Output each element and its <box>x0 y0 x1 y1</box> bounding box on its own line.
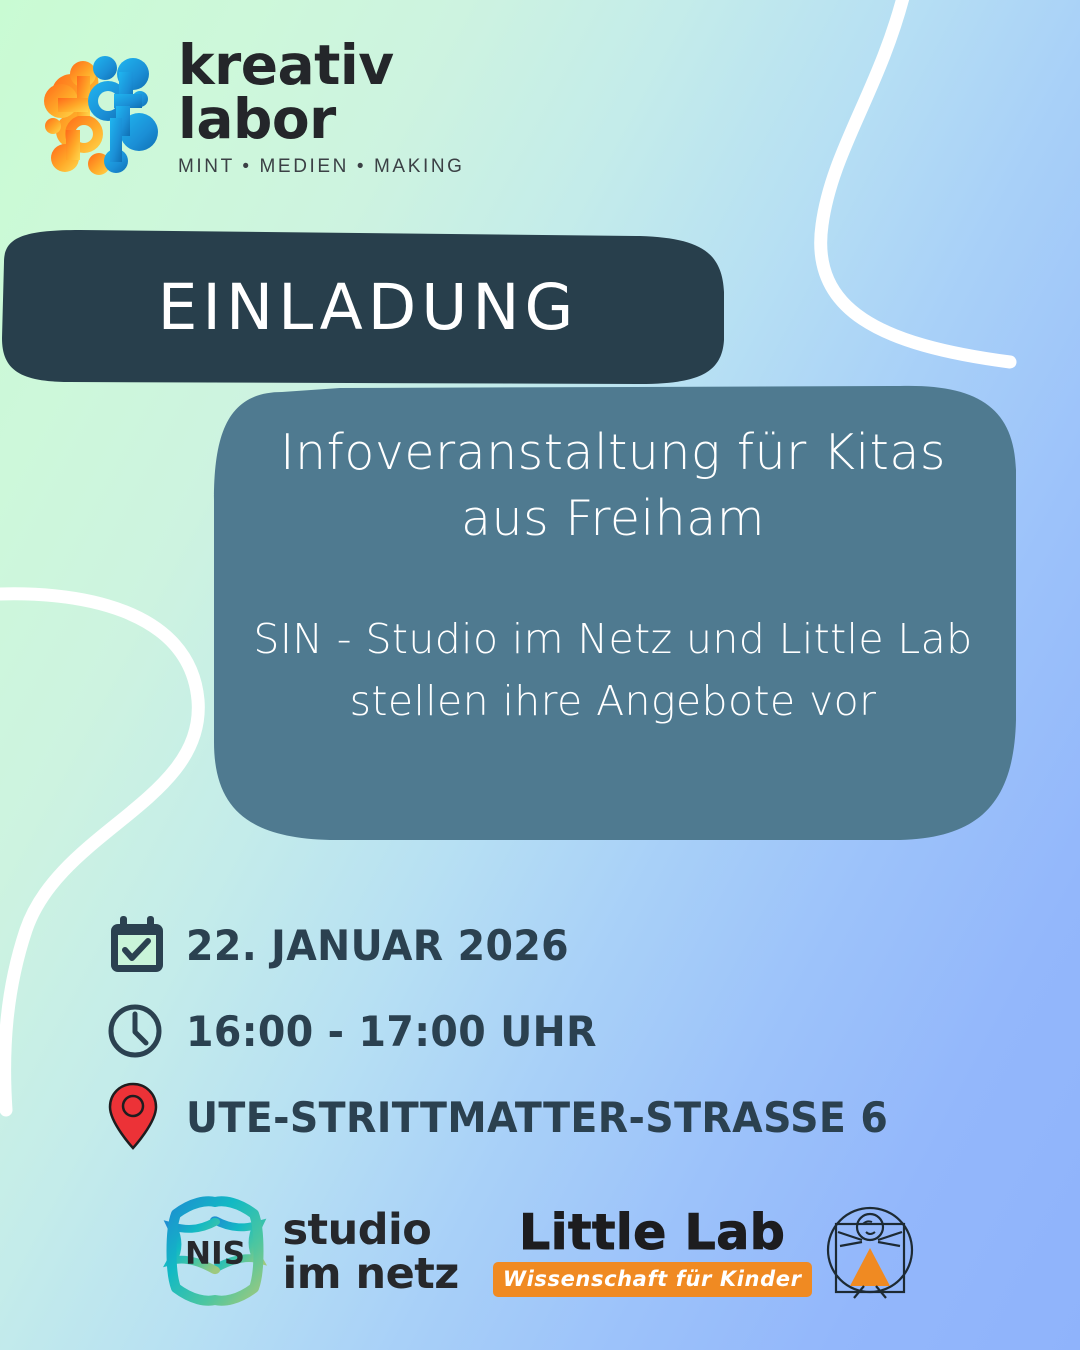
map-pin-icon <box>106 1082 168 1152</box>
einladung-label: EINLADUNG <box>0 228 726 386</box>
brand-name-line2: labor <box>178 92 458 146</box>
headline-line2: aus Freiham <box>218 486 1008 552</box>
einladung-banner: EINLADUNG <box>0 228 726 386</box>
main-message: Infoveranstaltung für Kitas aus Freiham … <box>218 420 1008 732</box>
detail-text-location: UTE-STRITTMATTER-STRASSE 6 <box>186 1093 888 1142</box>
detail-row-time: 16:00 - 17:00 UHR <box>106 992 986 1070</box>
brand-tagline: MINT • MEDIEN • MAKING <box>178 156 458 178</box>
event-details: 22. JANUAR 2026 16:00 - 17:00 UHR UTE-ST… <box>106 906 986 1164</box>
vitruvian-kid-icon <box>822 1202 918 1302</box>
molecule-network-icon <box>36 46 176 186</box>
sin-word-line1: studio <box>282 1208 458 1252</box>
little-lab-ribbon: Wissenschaft für Kinder <box>493 1262 812 1297</box>
subline-line2: stellen ihre Angebote vor <box>218 670 1008 732</box>
clock-icon <box>106 996 168 1066</box>
invitation-poster: kreativ labor MINT • MEDIEN • MAKING EIN… <box>0 0 1080 1350</box>
detail-row-location: UTE-STRITTMATTER-STRASSE 6 <box>106 1078 986 1156</box>
brand-logo: kreativ labor MINT • MEDIEN • MAKING <box>36 38 456 198</box>
calendar-check-icon <box>106 910 168 980</box>
subline-line1: SIN - Studio im Netz und Little Lab <box>218 608 1008 670</box>
detail-text-date: 22. JANUAR 2026 <box>186 921 569 970</box>
headline-line1: Infoveranstaltung für Kitas <box>218 420 1008 486</box>
sin-hexagon-icon: SIN <box>162 1196 268 1308</box>
little-lab-title: Little Lab <box>493 1208 812 1258</box>
sin-logo: SIN studio im netz <box>162 1196 458 1308</box>
little-lab-logo: Little Lab Wissenschaft für Kinder <box>493 1202 918 1302</box>
partner-logos: SIN studio im netz Little Lab Wissenscha… <box>0 1192 1080 1312</box>
svg-text:SIN: SIN <box>186 1233 246 1269</box>
detail-text-time: 16:00 - 17:00 UHR <box>186 1007 597 1056</box>
decorative-curve-right <box>821 0 1010 362</box>
sin-word-line2: im netz <box>282 1252 458 1296</box>
detail-row-date: 22. JANUAR 2026 <box>106 906 986 984</box>
brand-name-line1: kreativ <box>178 38 458 92</box>
sin-wordmark: studio im netz <box>282 1208 458 1296</box>
